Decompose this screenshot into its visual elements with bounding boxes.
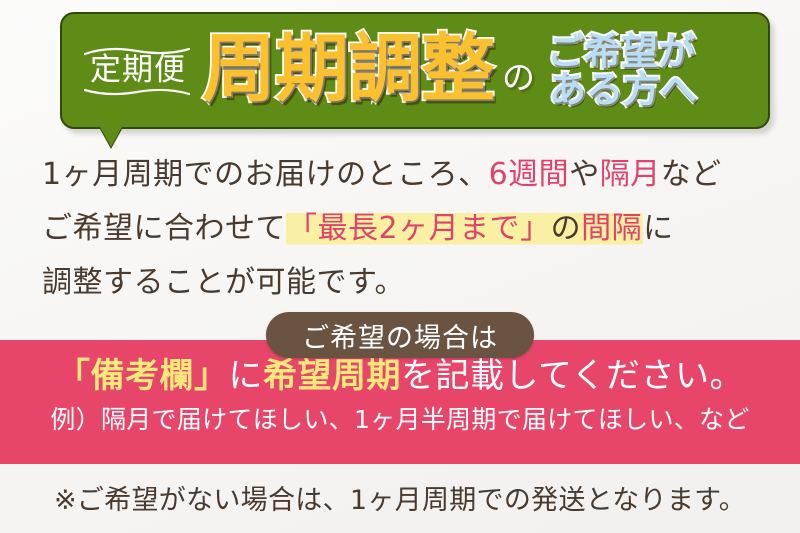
speech-bubble-tail-icon bbox=[100, 127, 122, 147]
footer-note: ※ご希望がない場合は、1ヶ月周期での発送となります。 bbox=[0, 478, 800, 517]
instruction-example-text: 例）隔月で届けてほしい、1ヶ月半周期で届けてほしい、など bbox=[0, 406, 800, 434]
subscription-tag-label: 定期便 bbox=[90, 52, 186, 88]
description-line1-text-b: や bbox=[569, 157, 600, 192]
subscription-cycle-adjustment-banner: 定期便 周期調整 の ご希望が ある方へ 1ヶ月周期でのお届けのところ、6週間や… bbox=[0, 0, 800, 533]
header-subtitle-line2: ある方へ bbox=[547, 71, 697, 109]
instruction-main-text: 「備考欄」に希望周期を記載してください。 bbox=[0, 358, 800, 395]
description-line-1: 1ヶ月周期でのお届けのところ、6週間や隔月など bbox=[42, 148, 772, 202]
header-title-main: 周期調整 bbox=[202, 32, 494, 106]
description-accent-max2months: 「最長2ヶ月まで」 bbox=[287, 211, 551, 246]
description-line1-text-c: など bbox=[661, 157, 722, 192]
description-line-3: 調整することが可能です。 bbox=[42, 256, 772, 310]
header-content: 定期便 周期調整 の ご希望が ある方へ bbox=[62, 14, 768, 127]
description-highlight-particle: の bbox=[551, 211, 582, 246]
instruction-pink-band: 「備考欄」に希望周期を記載してください。 例）隔月で届けてほしい、1ヶ月半周期で… bbox=[0, 340, 800, 464]
description-line1-text-a: 1ヶ月周期でのお届けのところ、 bbox=[42, 157, 489, 192]
description-accent-bimonthly: 隔月 bbox=[600, 157, 661, 192]
header-subtitle-line1: ご希望が bbox=[547, 33, 697, 71]
request-case-badge: ご希望の場合は bbox=[266, 312, 534, 358]
header-subtitle: ご希望が ある方へ bbox=[547, 33, 697, 108]
subscription-tag: 定期便 bbox=[84, 43, 190, 98]
instruction-highlight-cycle: 希望周期 bbox=[263, 356, 401, 396]
instruction-text-b: を記載してください。 bbox=[401, 356, 744, 396]
description-paragraph: 1ヶ月周期でのお届けのところ、6週間や隔月など ご希望に合わせて「最長2ヶ月まで… bbox=[42, 148, 772, 310]
header-title-particle: の bbox=[502, 61, 535, 94]
instruction-highlight-remarks: 「備考欄」 bbox=[56, 356, 229, 396]
wave-line-bottom-icon bbox=[84, 87, 190, 96]
description-line2-text-a: ご希望に合わせて bbox=[42, 211, 286, 246]
instruction-text-a: に bbox=[229, 356, 264, 396]
request-case-badge-label: ご希望の場合は bbox=[302, 316, 498, 355]
header-green-box: 定期便 周期調整 の ご希望が ある方へ bbox=[60, 12, 770, 129]
description-accent-6weeks: 6週間 bbox=[489, 157, 570, 192]
description-accent-interval: 間隔 bbox=[581, 211, 642, 246]
description-highlight: 「最長2ヶ月まで」の間隔 bbox=[286, 211, 643, 246]
description-line-2: ご希望に合わせて「最長2ヶ月まで」の間隔に bbox=[42, 202, 772, 256]
description-line2-text-b: に bbox=[643, 211, 674, 246]
